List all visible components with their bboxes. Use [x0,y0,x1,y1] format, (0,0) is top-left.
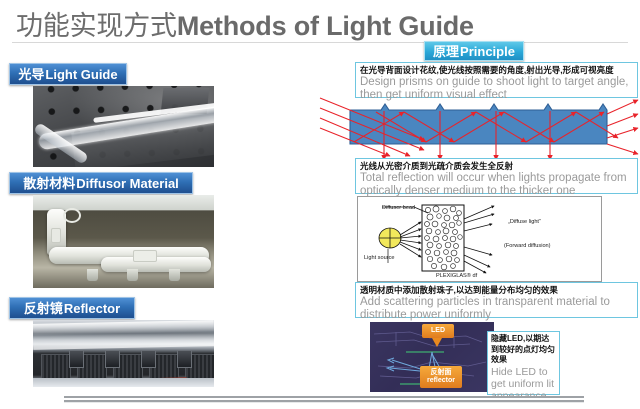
ray-bundle-outgoing [607,100,638,154]
forward-diffusion-label: (Forward diffusion) [504,243,551,249]
badge-diffusor-material[interactable]: 散射材料Diffusor Material [9,172,193,194]
reflector-base-trim [33,378,214,387]
callout-led: LED [422,324,454,338]
textbox-principle-cn: 在光导背面设计花纹,使光线按照需要的角度,射出光导,形成可视亮度 [360,65,633,76]
textbox-principle: 在光导背面设计花纹,使光线按照需要的角度,射出光导,形成可视亮度 Design … [355,62,638,98]
badge-light-guide[interactable]: 光导Light Guide [9,63,127,85]
diffusor-side-tab [51,228,61,243]
textbox-scattering: 透明材质中添加散射珠子,以达到能量分布均匀的效果 Add scattering … [355,282,638,318]
callout-reflector-cn: 反射面 [431,369,452,377]
page-title: 功能实现方式Methods of Light Guide [16,4,474,43]
textbox-principle-en: Design prisms on guide to shoot light to… [360,76,633,101]
page-title-en: Methods of Light Guide [177,11,474,41]
diffuser-bead-figure: Diffuser bead Light source „Diffuse ligh… [357,196,602,282]
title-bar: 功能实现方式Methods of Light Guide [0,0,640,44]
diffusor-part [41,209,209,275]
badge-light-guide-en: Light Guide [45,68,117,81]
page-title-cn: 功能实现方式 [16,11,177,41]
diffusor-foot [127,269,138,281]
title-divider [12,42,628,43]
light-guide-bar [350,104,607,144]
reflector-chrome-surface [33,320,214,350]
incident-rays [400,222,421,257]
badge-principle-cn: 原理 [433,45,460,58]
diffusor-foot [169,269,180,281]
badge-diffusor-cn: 散射材料 [23,177,76,190]
callout-reflector: 反射面 reflector [420,366,462,388]
callout-led-label: LED [431,327,445,335]
reflector-clip [141,350,156,368]
textbox-total-reflection: 光线从光密介质到光疏介质会发生全反射 Total reflection will… [355,158,638,194]
led-hiding-illustration: LED 反射面 reflector [370,322,494,392]
diffusor-mount-ring [63,208,81,223]
diffuser-bead-label: Diffuser bead [382,205,415,211]
reflector-clip [177,350,192,368]
callout-reflector-en: reflector [427,377,455,385]
badge-principle[interactable]: 原理Principle [424,41,524,61]
callout-led-tail [432,338,442,347]
textbox-total-reflection-cn: 光线从光密介质到光疏介质会发生全反射 [360,161,633,172]
reflector-clip [105,350,120,368]
light-guide-prism-diagram [318,96,640,162]
photo-diffusor-material [33,195,214,288]
textbox-hide-led-cn: 隐藏LED,以期达到较好的点灯均匀效果 [491,334,556,366]
diffused-rays [464,206,494,273]
badge-diffusor-en: Diffusor Material [76,177,179,190]
plexiglas-material-label: PLEXIGLAS® df [436,273,477,279]
textbox-scattering-en: Add scattering particles in transparent … [360,296,633,321]
diffusor-center-tab [133,250,157,262]
photo-light-guide [33,86,214,167]
badge-reflector[interactable]: 反射镜Reflector [9,297,135,319]
bottom-divider [64,396,584,403]
badge-principle-en: Principle [460,45,515,58]
textbox-scattering-cn: 透明材质中添加散射珠子,以达到能量分布均匀的效果 [360,285,633,296]
badge-light-guide-cn: 光导 [18,68,45,81]
badge-reflector-en: Reflector [64,302,120,315]
photo-reflector [33,320,214,387]
textbox-total-reflection-en: Total reflection will occur when lights … [360,172,633,197]
badge-reflector-cn: 反射镜 [24,302,64,315]
light-source-label: Light source [364,255,394,261]
diffusor-foot [87,269,98,281]
reflector-clip [69,350,84,368]
reflector-cell [41,354,71,380]
textbox-hide-led: 隐藏LED,以期达到较好的点灯均匀效果 Hide LED to get unif… [487,331,560,395]
diffuse-light-label: „Diffuse light“ [508,219,541,225]
